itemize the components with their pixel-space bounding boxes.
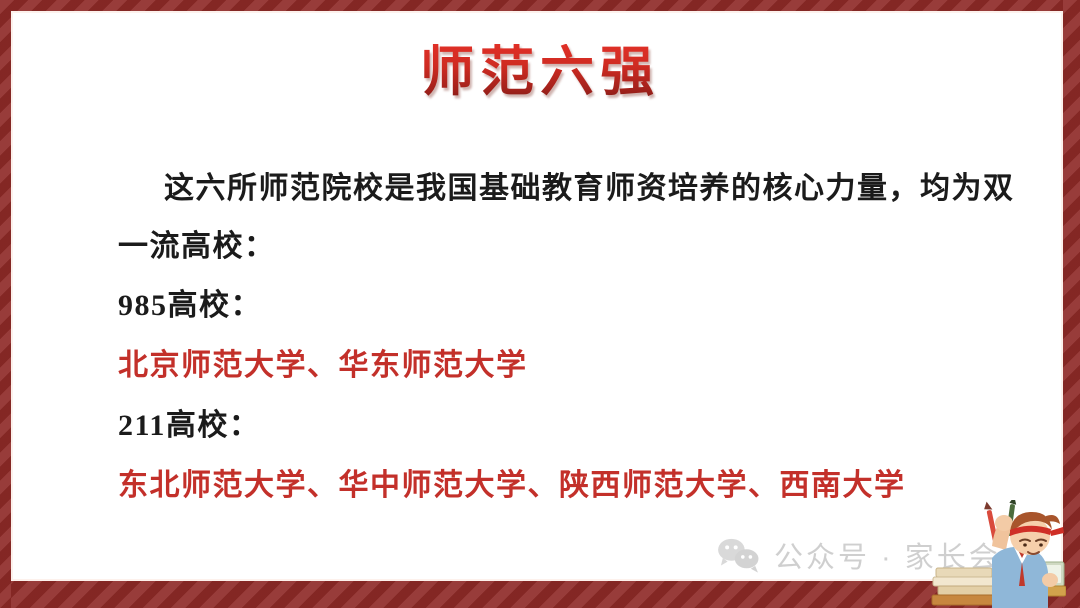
section-label-985: 985高校：	[118, 276, 1023, 336]
title-container: 师范六强	[0, 44, 1080, 101]
intro-paragraph-line-2: 一流高校：	[118, 218, 1023, 276]
section-label-211: 211高校：	[118, 396, 1023, 456]
student-with-books-illustration	[930, 500, 1066, 608]
intro-paragraph-line-1: 这六所师范院校是我国基础教育师资培养的核心力量，均为双	[118, 160, 1023, 218]
content-body: 这六所师范院校是我国基础教育师资培养的核心力量，均为双 一流高校： 985高校：…	[118, 160, 1023, 516]
section-schools-211: 东北师范大学、华中师范大学、陕西师范大学、西南大学	[118, 456, 1023, 516]
frame-border-top	[0, 0, 1080, 11]
slide-canvas: 师范六强 这六所师范院校是我国基础教育师资培养的核心力量，均为双 一流高校： 9…	[0, 0, 1080, 608]
frame-border-bottom	[0, 581, 1080, 608]
section-schools-985: 北京师范大学、华东师范大学	[118, 336, 1023, 396]
page-title: 师范六强	[420, 44, 660, 101]
wechat-icon	[716, 536, 762, 574]
